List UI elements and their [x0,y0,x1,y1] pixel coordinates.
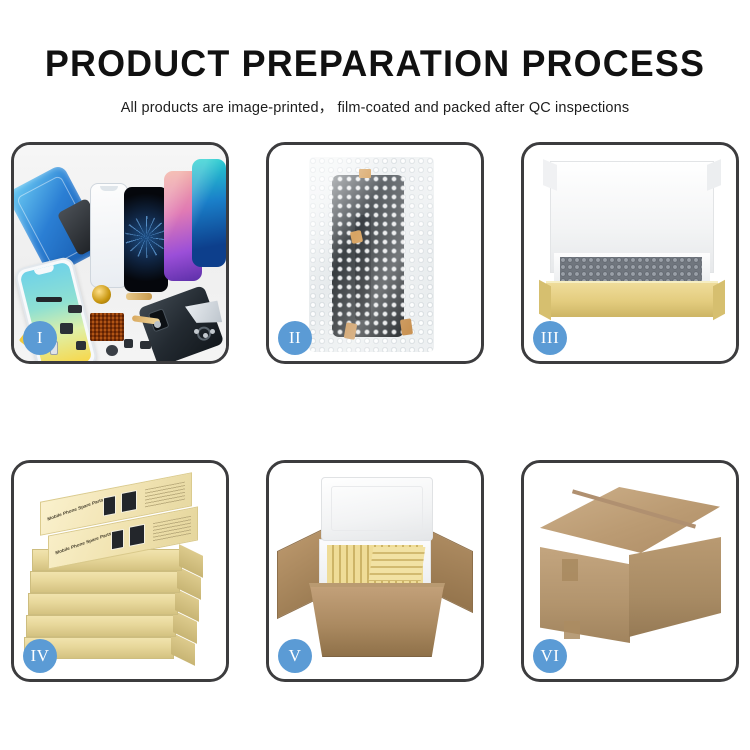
screw-group-icon [194,329,216,341]
step-panel-6: VI [521,460,739,682]
component-chip-icon-3 [124,339,133,348]
step-panel-3: III [521,142,739,364]
step-badge-6: VI [533,639,567,673]
step-panel-2: II [266,142,484,364]
header: PRODUCT PREPARATION PROCESS All products… [0,0,750,117]
process-steps-grid: I II [11,142,739,682]
stacked-box-icon-2 [26,615,176,637]
plastic-gloss-overlay [309,157,434,352]
box-stack: Mobile Phone Spare Parts Mobile Phone Sp… [20,477,220,667]
component-chip-icon-2 [76,341,86,350]
step-panel-5: V [266,460,484,682]
step-panel-1: I [11,142,229,364]
carton-body-icon [303,587,451,657]
box-screen-print-3 [103,495,116,517]
front-glass-icon [90,183,128,288]
stacked-box-icon-4 [30,571,180,593]
foam-lid-open-icon [321,477,433,541]
bubble-wrap-bag [309,157,434,352]
page-subtitle: All products are image-printed， film-coa… [0,96,750,117]
box-spec-lines-top [145,482,185,510]
carton-left-face [540,547,630,643]
packed-boxes-icon-2 [369,547,426,581]
copper-mesh-icon [90,313,124,341]
step-badge-2: II [278,321,312,355]
box-screen-print-2 [129,524,145,547]
earpiece-strip-icon [36,297,62,302]
display-burst-graphic [125,216,167,258]
component-chip-icon-4 [140,341,151,349]
carton-tape-icon-2 [564,621,580,639]
step-badge-3: III [533,321,567,355]
box-label-text-top: Mobile Phone Spare Parts [47,497,104,522]
step-panel-4: Mobile Phone Spare Parts Mobile Phone Sp… [11,460,229,682]
carton-right-face [629,537,721,637]
page-title: PRODUCT PREPARATION PROCESS [11,43,739,85]
step-badge-1: I [23,321,57,355]
screw-icon [154,321,161,328]
box-screen-print-4 [121,490,137,513]
yellow-box-base-icon [546,283,718,317]
product-preparation-infographic: PRODUCT PREPARATION PROCESS All products… [0,0,750,750]
speaker-coil-icon [92,285,111,304]
component-round-icon [106,345,118,356]
black-display-icon [124,187,168,292]
box-screen-print-1 [111,529,124,551]
step-badge-5: V [278,639,312,673]
box-label-text-front: Mobile Phone Spare Parts [55,531,112,556]
step-badge-4: IV [23,639,57,673]
component-chip-icon-5 [68,305,82,313]
stacked-box-icon-3 [28,593,178,615]
box-spec-lines-front [153,516,191,543]
teal-display-icon [192,159,226,267]
component-chip-icon [60,323,73,334]
flex-cable-icon [126,293,152,300]
carton-tape-icon-1 [562,559,578,581]
